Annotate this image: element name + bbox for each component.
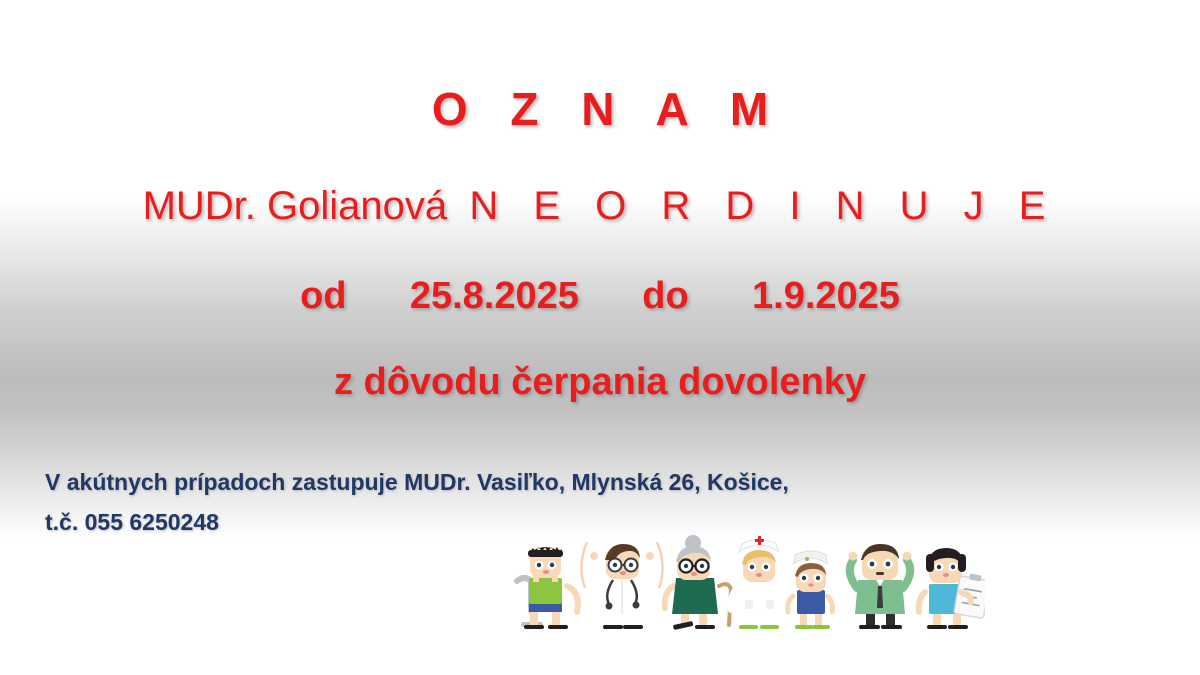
medical-people-illustration [505,534,985,639]
person-with-clipboard-figure [919,548,985,629]
child-with-head-bandage-figure [788,551,833,629]
doctor-with-stethoscope-figure [581,542,662,629]
poster-content: O Z N A M MUDr. Golianová N E O R D I N … [0,0,1200,675]
absence-reason: z dôvodu čerpania dovolenky [0,363,1200,401]
page-title: O Z N A M [0,86,1200,132]
doctor-name: MUDr. Golianová [143,184,448,228]
notice-poster: O Z N A M MUDr. Golianová N E O R D I N … [0,0,1200,675]
substitute-phone-info: t.č. 055 6250248 [45,511,219,534]
absence-dates-line: od 25.8.2025 do 1.9.2025 [0,277,1200,315]
doctor-status-line: MUDr. Golianová N E O R D I N U J E [0,186,1200,226]
patient-with-crutch-figure [517,547,578,629]
elderly-woman-with-cane-figure [665,535,731,630]
spacer [447,184,469,228]
man-arms-raised-figure [849,544,912,629]
substitute-doctor-info: V akútnych prípadoch zastupuje MUDr. Vas… [45,471,789,494]
nurse-with-cap-figure [731,536,790,629]
doctor-status: N E O R D I N U J E [469,184,1057,228]
